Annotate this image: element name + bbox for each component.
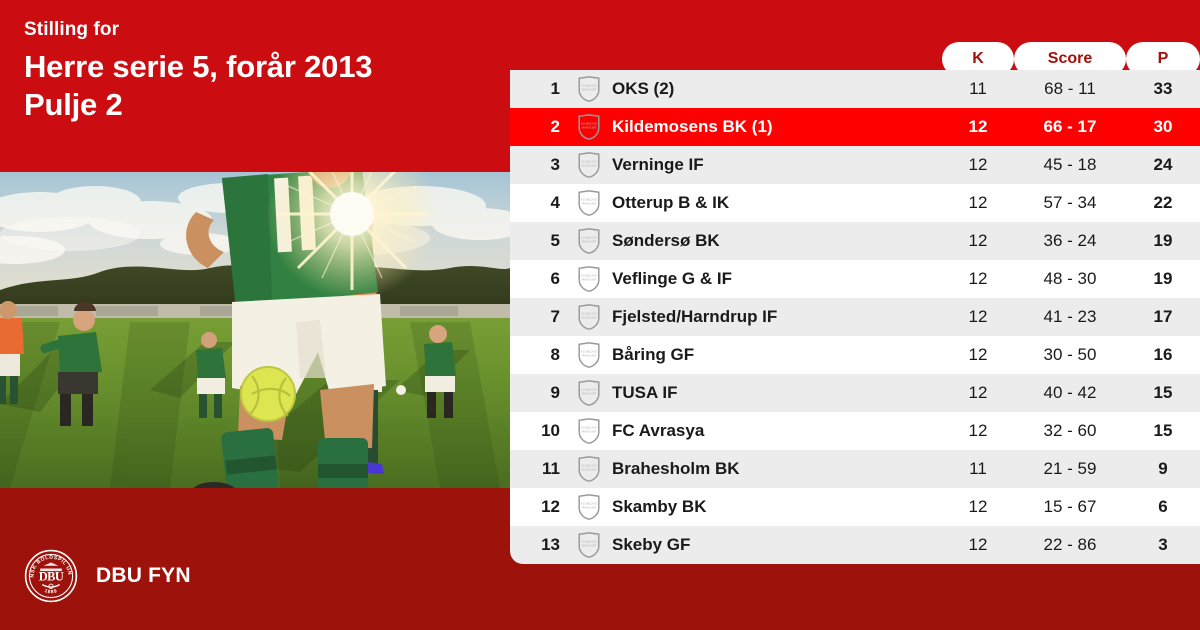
- table-row[interactable]: 1KLUBLOGOMANGLEROKS (2)1168 - 1133: [510, 70, 1200, 108]
- club-crest-icon: KLUBLOGOMANGLER: [566, 76, 612, 102]
- title-eyebrow: Stilling for: [24, 18, 494, 42]
- row-matches-played: 11: [942, 79, 1014, 99]
- row-points: 19: [1126, 269, 1200, 289]
- brand-footer: DANSK BOLDSPIL UNION 1889 DBU DBU FYN: [24, 549, 191, 603]
- row-team-name: Fjelsted/Harndrup IF: [612, 307, 942, 327]
- table-row[interactable]: 5KLUBLOGOMANGLERSøndersø BK1236 - 2419: [510, 222, 1200, 260]
- row-goal-score: 15 - 67: [1014, 497, 1126, 517]
- svg-text:MANGLER: MANGLER: [582, 392, 598, 396]
- standings-table: 1KLUBLOGOMANGLEROKS (2)1168 - 11332KLUBL…: [510, 70, 1200, 564]
- row-rank: 9: [510, 383, 566, 403]
- row-goal-score: 30 - 50: [1014, 345, 1126, 365]
- svg-text:MANGLER: MANGLER: [582, 316, 598, 320]
- club-crest-icon: KLUBLOGOMANGLER: [566, 494, 612, 520]
- row-points: 33: [1126, 79, 1200, 99]
- club-crest-icon: KLUBLOGOMANGLER: [566, 418, 612, 444]
- svg-text:DBU: DBU: [39, 569, 64, 583]
- row-matches-played: 12: [942, 345, 1014, 365]
- row-rank: 5: [510, 231, 566, 251]
- club-crest-icon: KLUBLOGOMANGLER: [566, 304, 612, 330]
- row-goal-score: 41 - 23: [1014, 307, 1126, 327]
- row-rank: 10: [510, 421, 566, 441]
- row-goal-score: 32 - 60: [1014, 421, 1126, 441]
- svg-text:MANGLER: MANGLER: [582, 354, 598, 358]
- row-points: 15: [1126, 383, 1200, 403]
- row-points: 16: [1126, 345, 1200, 365]
- row-matches-played: 12: [942, 269, 1014, 289]
- row-team-name: Søndersø BK: [612, 231, 942, 251]
- title-primary: Herre serie 5, forår 2013: [24, 48, 494, 86]
- table-row[interactable]: 2KLUBLOGOMANGLERKildemosens BK (1)1266 -…: [510, 108, 1200, 146]
- club-crest-icon: KLUBLOGOMANGLER: [566, 380, 612, 406]
- row-goal-score: 21 - 59: [1014, 459, 1126, 479]
- row-points: 30: [1126, 117, 1200, 137]
- row-matches-played: 12: [942, 155, 1014, 175]
- brand-name: DBU FYN: [96, 564, 191, 588]
- svg-text:MANGLER: MANGLER: [582, 240, 598, 244]
- row-rank: 8: [510, 345, 566, 365]
- row-rank: 2: [510, 117, 566, 137]
- row-team-name: Båring GF: [612, 345, 942, 365]
- svg-text:MANGLER: MANGLER: [582, 126, 598, 130]
- table-row[interactable]: 8KLUBLOGOMANGLERBåring GF1230 - 5016: [510, 336, 1200, 374]
- page-title: Stilling for Herre serie 5, forår 2013 P…: [24, 18, 494, 125]
- table-row[interactable]: 13KLUBLOGOMANGLERSkeby GF1222 - 863: [510, 526, 1200, 564]
- club-crest-icon: KLUBLOGOMANGLER: [566, 456, 612, 482]
- row-rank: 1: [510, 79, 566, 99]
- row-team-name: OKS (2): [612, 79, 942, 99]
- row-rank: 11: [510, 459, 566, 479]
- row-team-name: FC Avrasya: [612, 421, 942, 441]
- row-team-name: Skamby BK: [612, 497, 942, 517]
- row-goal-score: 48 - 30: [1014, 269, 1126, 289]
- row-rank: 7: [510, 307, 566, 327]
- row-team-name: Brahesholm BK: [612, 459, 942, 479]
- row-team-name: Veflinge G & IF: [612, 269, 942, 289]
- football-photo: [0, 172, 510, 488]
- row-matches-played: 12: [942, 117, 1014, 137]
- svg-text:MANGLER: MANGLER: [582, 278, 598, 282]
- row-goal-score: 68 - 11: [1014, 79, 1126, 99]
- row-goal-score: 36 - 24: [1014, 231, 1126, 251]
- table-row[interactable]: 9KLUBLOGOMANGLERTUSA IF1240 - 4215: [510, 374, 1200, 412]
- club-crest-icon: KLUBLOGOMANGLER: [566, 532, 612, 558]
- row-points: 9: [1126, 459, 1200, 479]
- dbu-logo-icon: DANSK BOLDSPIL UNION 1889 DBU: [24, 549, 78, 603]
- svg-text:MANGLER: MANGLER: [582, 88, 598, 92]
- row-rank: 13: [510, 535, 566, 555]
- club-crest-icon: KLUBLOGOMANGLER: [566, 114, 612, 140]
- row-matches-played: 12: [942, 231, 1014, 251]
- row-points: 22: [1126, 193, 1200, 213]
- row-matches-played: 12: [942, 383, 1014, 403]
- row-matches-played: 12: [942, 307, 1014, 327]
- row-points: 19: [1126, 231, 1200, 251]
- row-points: 24: [1126, 155, 1200, 175]
- row-goal-score: 66 - 17: [1014, 117, 1126, 137]
- row-goal-score: 57 - 34: [1014, 193, 1126, 213]
- table-row[interactable]: 11KLUBLOGOMANGLERBrahesholm BK1121 - 599: [510, 450, 1200, 488]
- club-crest-icon: KLUBLOGOMANGLER: [566, 152, 612, 178]
- table-row[interactable]: 12KLUBLOGOMANGLERSkamby BK1215 - 676: [510, 488, 1200, 526]
- row-rank: 12: [510, 497, 566, 517]
- svg-text:MANGLER: MANGLER: [582, 544, 598, 548]
- svg-text:MANGLER: MANGLER: [582, 202, 598, 206]
- row-team-name: Kildemosens BK (1): [612, 117, 942, 137]
- svg-text:MANGLER: MANGLER: [582, 164, 598, 168]
- row-team-name: TUSA IF: [612, 383, 942, 403]
- row-rank: 3: [510, 155, 566, 175]
- table-row[interactable]: 6KLUBLOGOMANGLERVeflinge G & IF1248 - 30…: [510, 260, 1200, 298]
- row-matches-played: 12: [942, 193, 1014, 213]
- row-matches-played: 11: [942, 459, 1014, 479]
- title-secondary: Pulje 2: [24, 86, 494, 124]
- row-team-name: Skeby GF: [612, 535, 942, 555]
- svg-text:MANGLER: MANGLER: [582, 468, 598, 472]
- row-points: 6: [1126, 497, 1200, 517]
- table-row[interactable]: 3KLUBLOGOMANGLERVerninge IF1245 - 1824: [510, 146, 1200, 184]
- row-rank: 6: [510, 269, 566, 289]
- svg-text:MANGLER: MANGLER: [582, 506, 598, 510]
- table-row[interactable]: 7KLUBLOGOMANGLERFjelsted/Harndrup IF1241…: [510, 298, 1200, 336]
- row-goal-score: 45 - 18: [1014, 155, 1126, 175]
- row-points: 3: [1126, 535, 1200, 555]
- row-matches-played: 12: [942, 535, 1014, 555]
- row-goal-score: 22 - 86: [1014, 535, 1126, 555]
- row-matches-played: 12: [942, 421, 1014, 441]
- row-points: 15: [1126, 421, 1200, 441]
- row-team-name: Verninge IF: [612, 155, 942, 175]
- row-matches-played: 12: [942, 497, 1014, 517]
- club-crest-icon: KLUBLOGOMANGLER: [566, 342, 612, 368]
- club-crest-icon: KLUBLOGOMANGLER: [566, 190, 612, 216]
- row-goal-score: 40 - 42: [1014, 383, 1126, 403]
- row-team-name: Otterup B & IK: [612, 193, 942, 213]
- row-rank: 4: [510, 193, 566, 213]
- table-row[interactable]: 10KLUBLOGOMANGLERFC Avrasya1232 - 6015: [510, 412, 1200, 450]
- row-points: 17: [1126, 307, 1200, 327]
- svg-text:MANGLER: MANGLER: [582, 430, 598, 434]
- table-row[interactable]: 4KLUBLOGOMANGLEROtterup B & IK1257 - 342…: [510, 184, 1200, 222]
- club-crest-icon: KLUBLOGOMANGLER: [566, 266, 612, 292]
- club-crest-icon: KLUBLOGOMANGLER: [566, 228, 612, 254]
- svg-text:1889: 1889: [44, 588, 59, 595]
